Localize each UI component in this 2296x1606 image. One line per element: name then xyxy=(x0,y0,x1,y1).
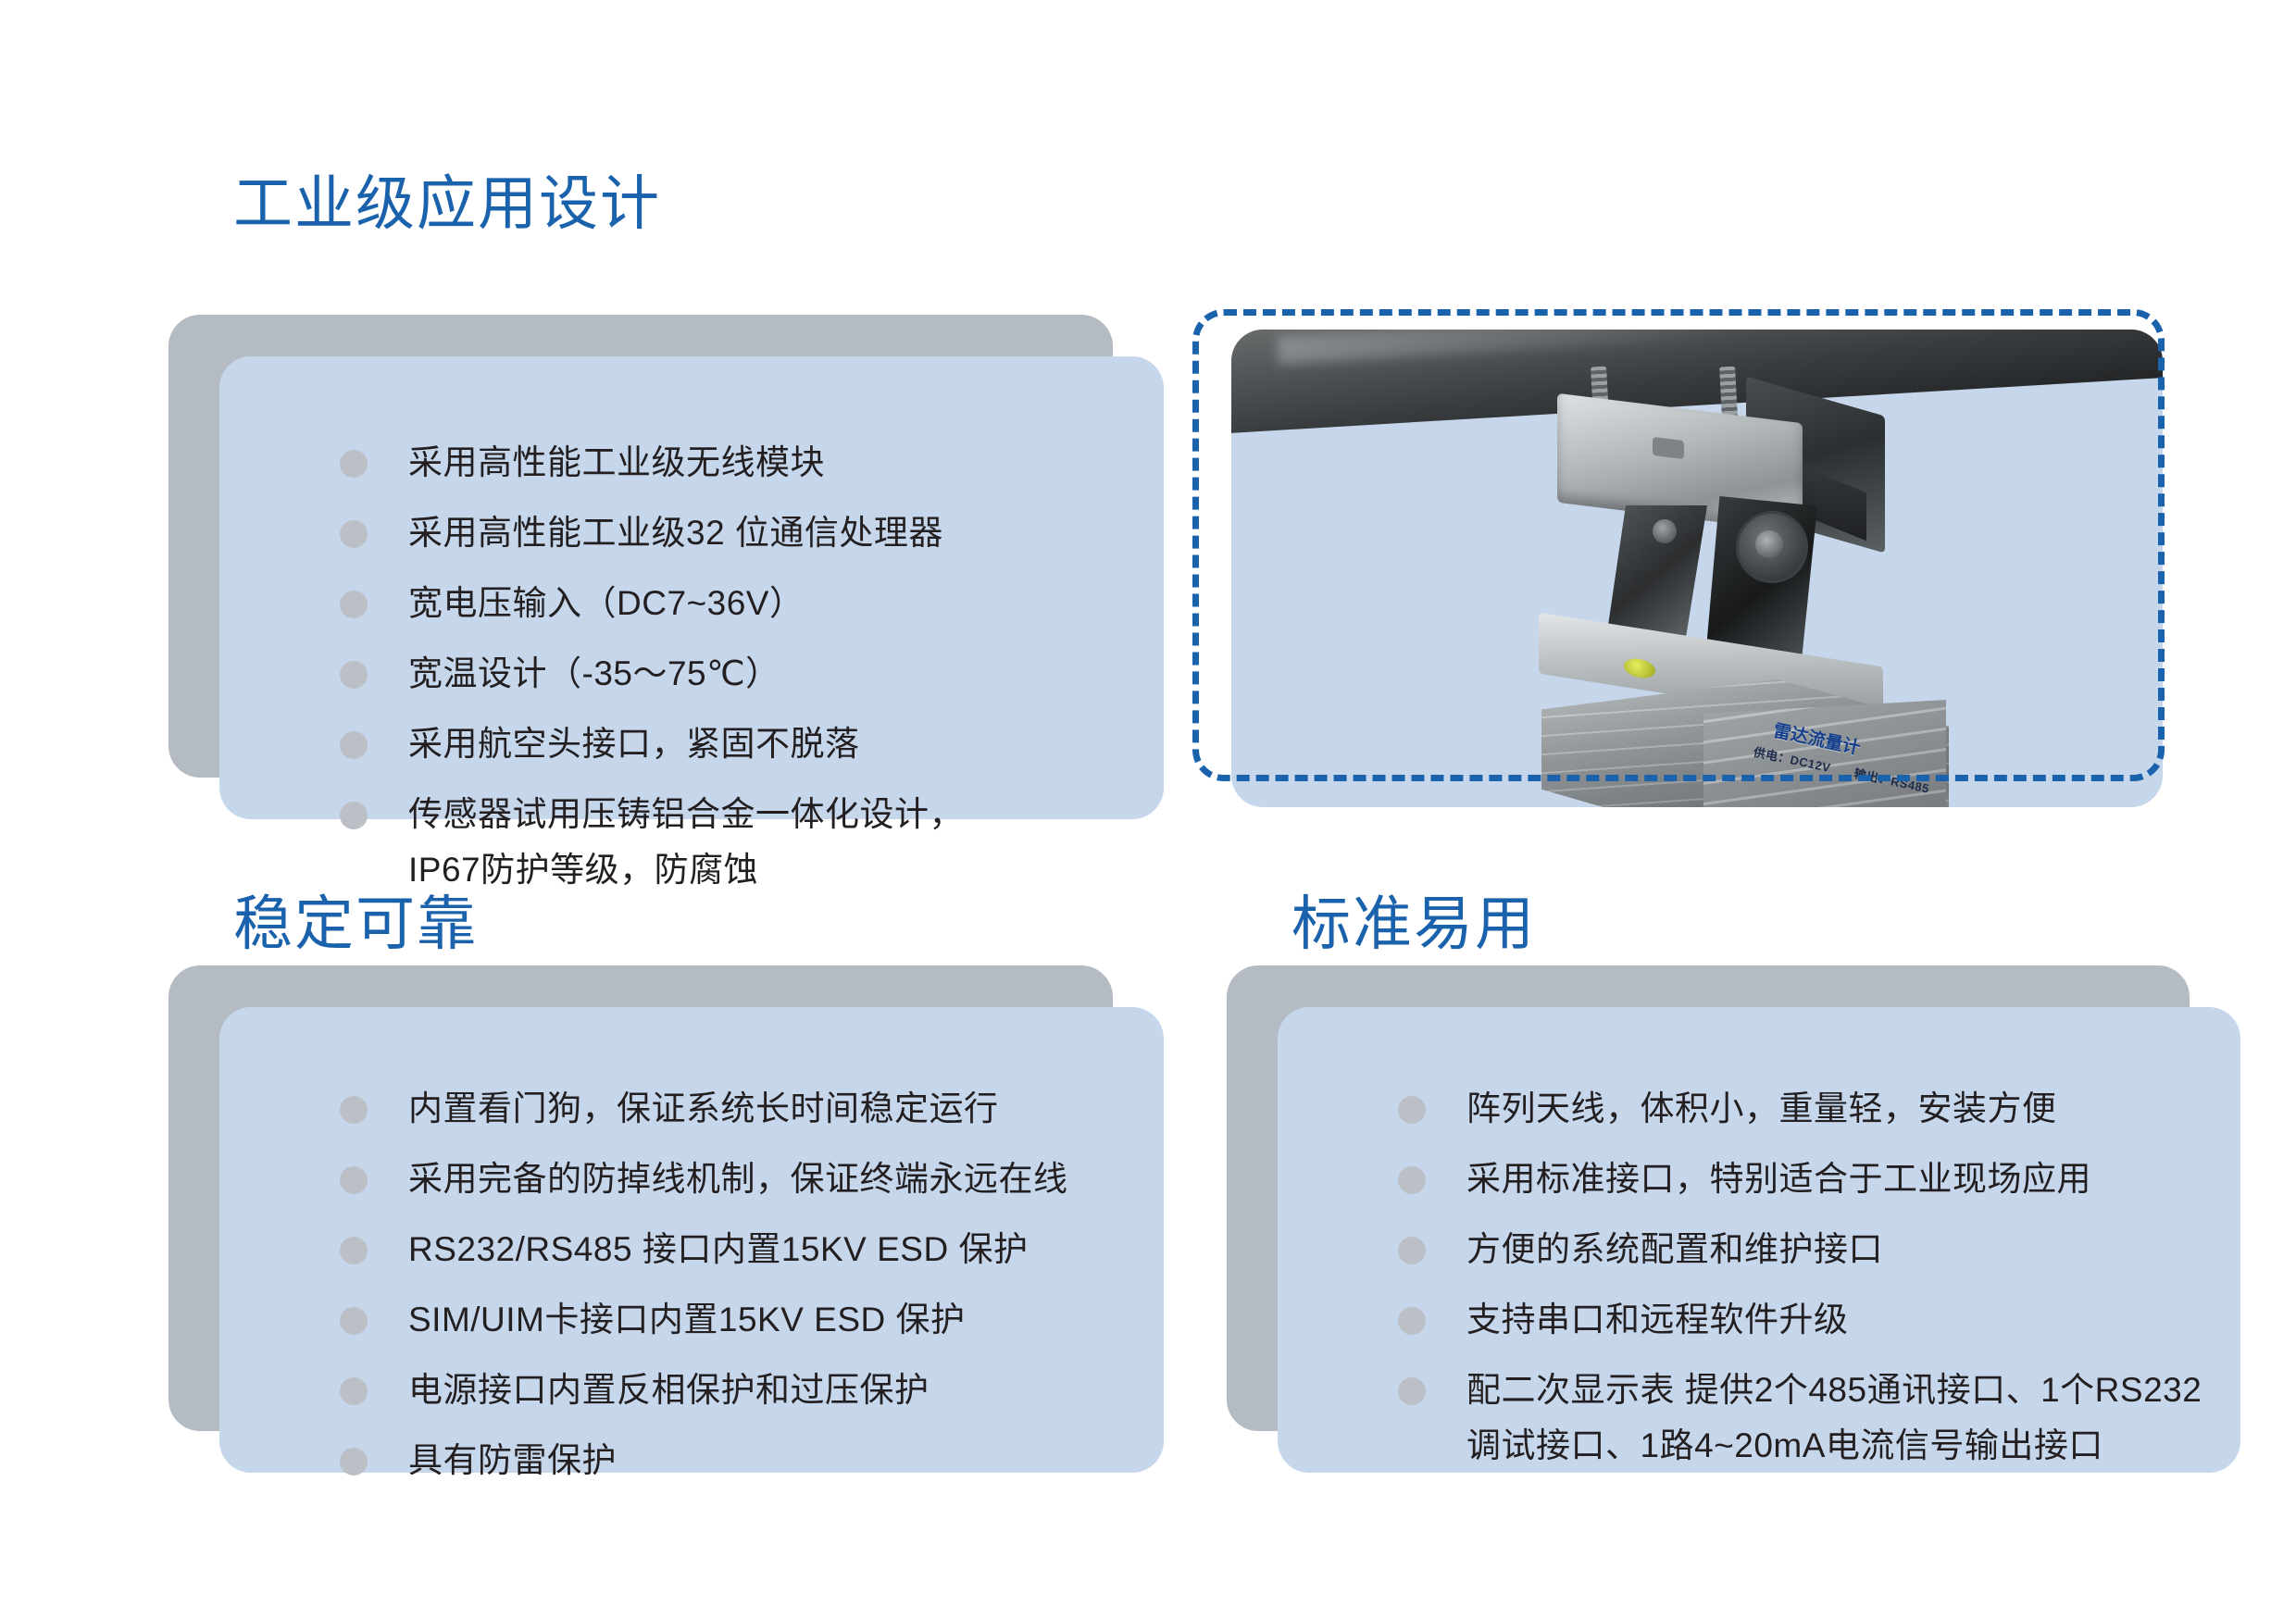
card-front-layer: 阵列天线，体积小，重量轻，安装方便 采用标准接口，特别适合于工业现场应用 方便的… xyxy=(1278,1007,2240,1473)
bullet-dot-icon xyxy=(340,802,368,829)
section-heading-industrial: 工业级应用设计 xyxy=(233,174,661,233)
list-item-text: SIM/UIM卡接口内置15KV ESD 保护 xyxy=(408,1301,966,1338)
section-heading-standard: 标准易用 xyxy=(1291,894,1536,953)
bullet-dot-icon xyxy=(340,661,368,689)
bullet-dot-icon xyxy=(1398,1377,1426,1405)
card-industrial-design: 采用高性能工业级无线模块 采用高性能工业级32 位通信处理器 宽电压输入（DC7… xyxy=(168,315,1164,819)
bullet-dot-icon xyxy=(340,1377,368,1405)
bullet-dot-icon xyxy=(340,1448,368,1475)
list-item-text: 具有防雷保护 xyxy=(408,1441,617,1479)
bullet-list-standard: 阵列天线，体积小，重量轻，安装方便 采用标准接口，特别适合于工业现场应用 方便的… xyxy=(1398,1081,2231,1488)
bullet-dot-icon xyxy=(340,1237,368,1264)
pipe-sheen xyxy=(1277,330,1736,365)
bullet-dot-icon xyxy=(340,731,368,759)
list-item-text: 采用标准接口，特别适合于工业现场应用 xyxy=(1466,1160,2091,1198)
bullet-dot-icon xyxy=(1398,1166,1426,1194)
bullet-list-stable: 内置看门狗，保证系统长时间稳定运行 采用完备的防掉线机制，保证终端永远在线 RS… xyxy=(340,1081,1154,1503)
list-item-text: 采用高性能工业级32 位通信处理器 xyxy=(408,514,943,552)
list-item: 采用标准接口，特别适合于工业现场应用 xyxy=(1398,1152,2231,1207)
list-item: 采用高性能工业级32 位通信处理器 xyxy=(340,505,1136,561)
bullet-list-industrial: 采用高性能工业级无线模块 采用高性能工业级32 位通信处理器 宽电压输入（DC7… xyxy=(340,435,1136,913)
bullet-dot-icon xyxy=(340,450,368,478)
section-heading-stable: 稳定可靠 xyxy=(233,894,478,953)
list-item: SIM/UIM卡接口内置15KV ESD 保护 xyxy=(340,1292,1154,1348)
list-item: 电源接口内置反相保护和过压保护 xyxy=(340,1363,1154,1418)
bullet-dot-icon xyxy=(340,591,368,618)
card-stable-reliable: 内置看门狗，保证系统长时间稳定运行 采用完备的防掉线机制，保证终端永远在线 RS… xyxy=(168,965,1164,1473)
list-item-text-line2: IP67防护等级，防腐蚀 xyxy=(408,842,1136,898)
bullet-dot-icon xyxy=(340,1307,368,1335)
page-root: 工业级应用设计 采用高性能工业级无线模块 采用高性能工业级32 位通信处理器 宽… xyxy=(0,0,2296,1606)
card-standard-easy: 阵列天线，体积小，重量轻，安装方便 采用标准接口，特别适合于工业现场应用 方便的… xyxy=(1227,965,2240,1473)
bullet-dot-icon xyxy=(1398,1307,1426,1335)
product-photo-radar-flow-meter: 雷达流量计 供电：DC12V 输出：RS485 xyxy=(1231,330,2163,807)
list-item-text: 采用航空头接口，紧固不脱落 xyxy=(408,725,860,763)
product-photo-panel: 雷达流量计 供电：DC12V 输出：RS485 xyxy=(1231,330,2163,807)
card-front-layer: 内置看门狗，保证系统长时间稳定运行 采用完备的防掉线机制，保证终端永远在线 RS… xyxy=(219,1007,1164,1473)
list-item: 阵列天线，体积小，重量轻，安装方便 xyxy=(1398,1081,2231,1137)
list-item: 具有防雷保护 xyxy=(340,1433,1154,1488)
list-item-text: 配二次显示表 提供2个485通讯接口、1个RS232 xyxy=(1466,1371,2202,1409)
list-item-text: 内置看门狗，保证系统长时间稳定运行 xyxy=(408,1089,999,1127)
bracket-slot xyxy=(1653,437,1684,459)
list-item: 内置看门狗，保证系统长时间稳定运行 xyxy=(340,1081,1154,1137)
list-item: RS232/RS485 接口内置15KV ESD 保护 xyxy=(340,1222,1154,1277)
bullet-dot-icon xyxy=(1398,1096,1426,1124)
list-item: 支持串口和远程软件升级 xyxy=(1398,1292,2231,1348)
card-front-layer: 采用高性能工业级无线模块 采用高性能工业级32 位通信处理器 宽电压输入（DC7… xyxy=(219,356,1164,819)
list-item-text: 电源接口内置反相保护和过压保护 xyxy=(408,1371,930,1409)
list-item: 采用完备的防掉线机制，保证终端永远在线 xyxy=(340,1152,1154,1207)
list-item-text: 传感器试用压铸铝合金一体化设计， xyxy=(408,795,964,833)
connector-dial-inner xyxy=(1755,530,1783,558)
list-item-text: 采用高性能工业级无线模块 xyxy=(408,443,825,481)
list-item-text: 宽电压输入（DC7~36V） xyxy=(408,584,804,622)
bullet-dot-icon xyxy=(340,1166,368,1194)
list-item-text-line2: 调试接口、1路4~20mA电流信号输出接口 xyxy=(1466,1418,2231,1474)
photo-frame: 雷达流量计 供电：DC12V 输出：RS485 xyxy=(1231,330,2163,807)
list-item: 传感器试用压铸铝合金一体化设计， IP67防护等级，防腐蚀 xyxy=(340,787,1136,898)
connector-small xyxy=(1653,519,1677,543)
list-item: 宽电压输入（DC7~36V） xyxy=(340,576,1136,631)
list-item-text: 宽温设计（-35～75℃） xyxy=(408,654,780,692)
list-item-text: 阵列天线，体积小，重量轻，安装方便 xyxy=(1466,1089,2057,1127)
list-item: 宽温设计（-35～75℃） xyxy=(340,646,1136,702)
list-item-text: 支持串口和远程软件升级 xyxy=(1466,1301,1849,1338)
bullet-dot-icon xyxy=(340,520,368,548)
list-item: 方便的系统配置和维护接口 xyxy=(1398,1222,2231,1277)
list-item: 采用航空头接口，紧固不脱落 xyxy=(340,716,1136,772)
list-item: 配二次显示表 提供2个485通讯接口、1个RS232 调试接口、1路4~20mA… xyxy=(1398,1363,2231,1474)
list-item: 采用高性能工业级无线模块 xyxy=(340,435,1136,491)
list-item-text: 方便的系统配置和维护接口 xyxy=(1466,1230,1883,1268)
bullet-dot-icon xyxy=(1398,1237,1426,1264)
list-item-text: 采用完备的防掉线机制，保证终端永远在线 xyxy=(408,1160,1068,1198)
list-item-text: RS232/RS485 接口内置15KV ESD 保护 xyxy=(408,1230,1028,1268)
bullet-dot-icon xyxy=(340,1096,368,1124)
